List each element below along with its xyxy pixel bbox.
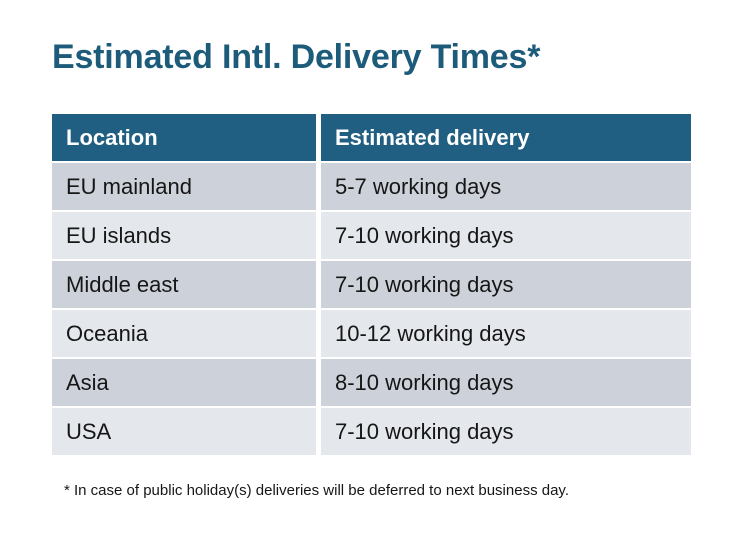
table-row: EU mainland 5-7 working days [52, 163, 691, 210]
cell-location: EU mainland [52, 163, 316, 210]
cell-delivery: 7-10 working days [321, 212, 691, 259]
cell-delivery: 10-12 working days [321, 310, 691, 357]
cell-location: Oceania [52, 310, 316, 357]
cell-location: Middle east [52, 261, 316, 308]
cell-location: Asia [52, 359, 316, 406]
column-header-estimated-delivery: Estimated delivery [321, 114, 691, 161]
table-header-row: Location Estimated delivery [52, 114, 691, 161]
cell-location: USA [52, 408, 316, 455]
cell-location: EU islands [52, 212, 316, 259]
cell-delivery: 7-10 working days [321, 408, 691, 455]
cell-delivery: 8-10 working days [321, 359, 691, 406]
table-row: EU islands 7-10 working days [52, 212, 691, 259]
page-title: Estimated Intl. Delivery Times* [52, 36, 540, 78]
table-row: Oceania 10-12 working days [52, 310, 691, 357]
table-row: Middle east 7-10 working days [52, 261, 691, 308]
table-row: Asia 8-10 working days [52, 359, 691, 406]
cell-delivery: 5-7 working days [321, 163, 691, 210]
table-row: USA 7-10 working days [52, 408, 691, 455]
cell-delivery: 7-10 working days [321, 261, 691, 308]
delivery-times-page: Estimated Intl. Delivery Times* Location… [0, 0, 745, 536]
delivery-times-table: Location Estimated delivery EU mainland … [52, 114, 691, 455]
column-header-location: Location [52, 114, 316, 161]
footnote-text: * In case of public holiday(s) deliverie… [64, 481, 569, 501]
